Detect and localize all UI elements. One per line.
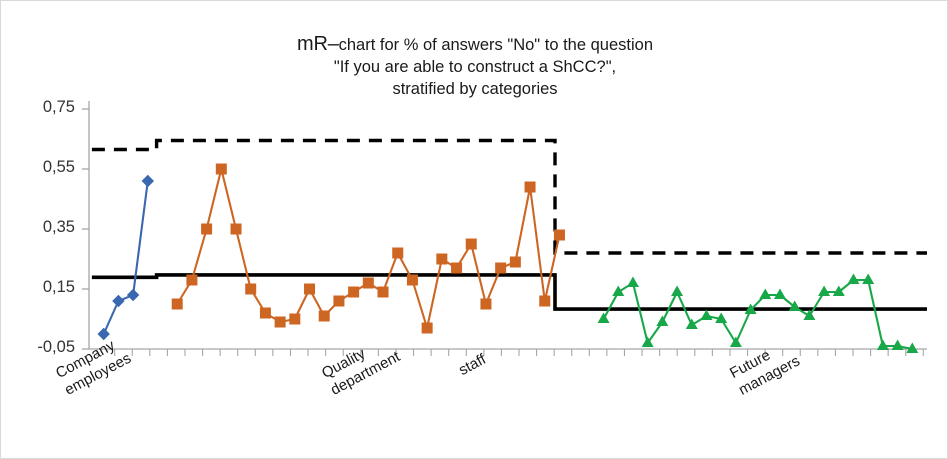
- data-point-marker: [231, 224, 242, 235]
- data-point-marker: [304, 284, 315, 295]
- data-point-marker: [847, 273, 859, 284]
- data-point-marker: [363, 278, 374, 289]
- series-2: [172, 164, 565, 334]
- data-point-marker: [451, 263, 462, 274]
- series-3: [598, 273, 919, 353]
- data-point-marker: [877, 339, 889, 350]
- data-point-marker: [407, 275, 418, 286]
- data-point-marker: [333, 296, 344, 307]
- data-point-marker: [774, 288, 786, 299]
- data-point-marker: [892, 339, 904, 350]
- y-axis-tick-label: 0,35: [13, 218, 75, 237]
- center-line: [92, 275, 927, 309]
- data-point-marker: [319, 311, 330, 322]
- data-point-marker: [495, 263, 506, 274]
- data-point-marker: [392, 248, 403, 259]
- data-point-marker: [480, 299, 491, 310]
- data-point-marker: [172, 299, 183, 310]
- data-point-marker: [627, 276, 639, 287]
- series-1: [98, 175, 155, 340]
- data-point-marker: [700, 309, 712, 320]
- data-series-layer: [98, 164, 919, 353]
- data-point-marker: [260, 308, 271, 319]
- chart-plot-area: [1, 1, 948, 459]
- y-axis-tick-label: 0,15: [13, 278, 75, 297]
- data-point-marker: [656, 315, 668, 326]
- data-point-marker: [539, 296, 550, 307]
- data-point-marker: [142, 175, 154, 187]
- data-point-marker: [789, 300, 801, 311]
- data-point-marker: [112, 295, 124, 307]
- data-point-marker: [598, 312, 610, 323]
- chart-container: mR–chart for % of answers "No" to the qu…: [0, 0, 948, 459]
- data-point-marker: [201, 224, 212, 235]
- data-point-marker: [275, 317, 286, 328]
- data-point-marker: [216, 164, 227, 175]
- y-axis-tick-label: 0,55: [13, 158, 75, 177]
- data-point-marker: [612, 285, 624, 296]
- data-point-marker: [554, 230, 565, 241]
- data-point-marker: [289, 314, 300, 325]
- data-point-marker: [127, 289, 139, 301]
- data-point-marker: [186, 275, 197, 286]
- data-point-marker: [759, 288, 771, 299]
- data-point-marker: [686, 318, 698, 329]
- data-point-marker: [378, 287, 389, 298]
- data-point-marker: [422, 323, 433, 334]
- series-line: [177, 169, 559, 328]
- data-point-marker: [862, 273, 874, 284]
- data-point-marker: [833, 285, 845, 296]
- y-axis-tick-label: 0,75: [13, 98, 75, 117]
- data-point-marker: [245, 284, 256, 295]
- upper-control-limit: [92, 141, 927, 254]
- data-point-marker: [510, 257, 521, 268]
- data-point-marker: [436, 254, 447, 265]
- series-line: [104, 181, 148, 334]
- data-point-marker: [466, 239, 477, 250]
- data-point-marker: [671, 285, 683, 296]
- y-axis-tick-label: -0,05: [13, 338, 75, 357]
- data-point-marker: [348, 287, 359, 298]
- data-point-marker: [525, 182, 536, 193]
- data-point-marker: [818, 285, 830, 296]
- series-line: [604, 280, 913, 349]
